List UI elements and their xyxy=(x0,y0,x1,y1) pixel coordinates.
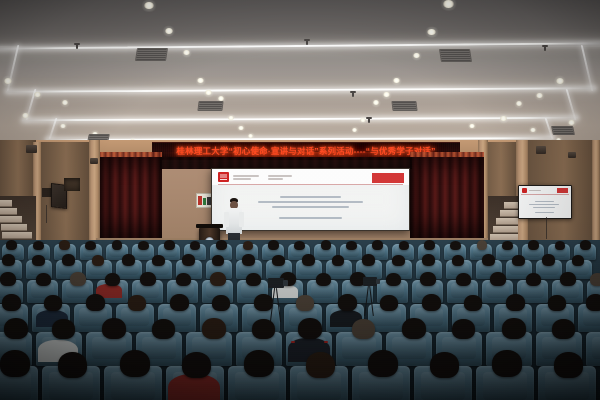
audience-head xyxy=(120,350,150,377)
audience-head xyxy=(2,294,21,311)
downlight xyxy=(360,118,366,122)
display-graphic xyxy=(198,196,202,205)
audience-head xyxy=(372,240,383,250)
building-part xyxy=(557,191,568,193)
ceiling-outer-panel xyxy=(0,0,600,46)
audience-head xyxy=(380,295,398,311)
downlight xyxy=(62,100,68,105)
stair-step xyxy=(0,216,22,223)
audience-head xyxy=(58,352,87,378)
speaker-arm xyxy=(224,212,229,227)
audience-head xyxy=(542,254,555,266)
tv-slide-body-line xyxy=(533,207,555,208)
stair-step xyxy=(0,200,12,207)
building-part xyxy=(401,176,403,180)
audience-head xyxy=(464,295,482,311)
audience-head xyxy=(33,241,44,250)
audience-head xyxy=(555,241,565,250)
audience-head xyxy=(302,254,315,266)
audience-head xyxy=(32,255,45,266)
audience-head xyxy=(321,240,331,250)
audience-head xyxy=(492,350,522,377)
downlight xyxy=(4,78,12,84)
audience-head xyxy=(580,240,591,250)
audience-head xyxy=(572,255,584,266)
audience-head xyxy=(450,241,461,250)
audience-head xyxy=(362,254,375,266)
air-conditioning-vent xyxy=(439,49,472,62)
audience-head xyxy=(6,240,17,250)
audience-head xyxy=(560,272,576,286)
audience-head xyxy=(346,241,357,250)
air-conditioning-vent xyxy=(391,101,417,111)
building-part xyxy=(373,176,375,180)
audience-head xyxy=(482,254,495,266)
building-part xyxy=(384,173,392,177)
downlight xyxy=(228,116,234,120)
audience-head xyxy=(586,294,600,311)
audience-head xyxy=(182,352,211,378)
downlight xyxy=(205,90,212,95)
audience-head xyxy=(420,272,436,286)
uniform-epaulette xyxy=(324,341,328,343)
audience-head xyxy=(506,294,525,311)
video-camera-icon xyxy=(268,278,284,288)
stair-step xyxy=(0,208,17,215)
audience-head xyxy=(386,273,401,286)
audience-head xyxy=(138,241,149,250)
downlight xyxy=(393,78,400,83)
stair-step xyxy=(500,210,518,217)
slide-header-title xyxy=(233,175,259,177)
side-monitor xyxy=(518,185,572,219)
tv-slide-body-line xyxy=(535,212,554,213)
audience-head xyxy=(452,255,464,266)
audience-head xyxy=(294,241,305,250)
audience-head xyxy=(332,255,344,266)
building-part xyxy=(372,180,404,183)
audience-head xyxy=(52,319,75,339)
downlight xyxy=(373,100,379,105)
audience-head xyxy=(246,273,261,286)
auditorium-photo: 桂林理工大学“初心使命·宣讲与对话”系列活动----“与优秀学子对话” xyxy=(0,0,600,400)
audience-head xyxy=(424,240,435,250)
audience-head xyxy=(128,295,146,311)
audience-head xyxy=(4,318,28,339)
downlight xyxy=(144,2,154,9)
speaker-arm xyxy=(239,212,244,227)
audience-head xyxy=(170,294,189,311)
downlight xyxy=(34,92,41,97)
seat xyxy=(586,332,600,366)
audience-head xyxy=(242,254,255,266)
audience-head xyxy=(296,295,314,311)
audience-head xyxy=(85,241,96,250)
slide-logo-mark xyxy=(220,174,226,180)
side-monitor-screen xyxy=(519,186,571,218)
tv-building-graphic xyxy=(557,188,568,193)
camera-lens-icon xyxy=(283,280,288,286)
audience-head xyxy=(590,273,600,286)
audience-seating xyxy=(0,240,600,400)
audience-head xyxy=(254,294,273,311)
slide-header-subtitle xyxy=(268,175,292,177)
audience-head xyxy=(164,240,175,250)
audience-head xyxy=(152,255,165,266)
downlight xyxy=(383,92,390,97)
audience-head xyxy=(176,273,191,286)
audience-head xyxy=(252,319,275,339)
downlight xyxy=(183,50,190,55)
downlight xyxy=(469,124,475,128)
audience-head xyxy=(502,318,526,339)
building-part xyxy=(559,189,566,191)
monitor-cable xyxy=(546,217,547,239)
audience-head xyxy=(268,240,279,250)
audience-head xyxy=(210,272,226,286)
audience-head xyxy=(298,318,322,339)
audience-head xyxy=(102,318,126,339)
audience-head xyxy=(44,295,62,311)
audience-head xyxy=(548,295,566,311)
downlight xyxy=(22,113,29,118)
audience-head xyxy=(92,255,104,266)
downlight xyxy=(516,101,522,106)
air-conditioning-vent xyxy=(197,101,223,111)
audience-head xyxy=(36,273,51,286)
tv-slide-logo xyxy=(522,188,527,193)
downlight xyxy=(568,120,575,125)
downlight xyxy=(556,78,564,84)
audience-head xyxy=(512,255,525,266)
audience-head xyxy=(552,319,575,339)
audience-head xyxy=(59,240,70,250)
audience-head xyxy=(477,240,487,250)
stair-step xyxy=(493,226,518,233)
audience-head xyxy=(70,272,86,286)
downlight xyxy=(352,128,357,132)
fire-sprinkler xyxy=(352,92,354,97)
audience-head xyxy=(338,294,357,311)
audience-head xyxy=(456,273,471,286)
downlight xyxy=(248,134,253,138)
audience-head xyxy=(0,350,30,377)
audience-head xyxy=(430,352,459,378)
downlight xyxy=(530,128,536,132)
ceiling-coffer-1 xyxy=(0,48,600,92)
wall-spotlight-icon xyxy=(26,145,37,153)
air-conditioning-vent xyxy=(135,48,168,61)
audience-head xyxy=(2,254,15,266)
video-camera-icon xyxy=(363,277,377,286)
slide-header-rule xyxy=(218,184,403,185)
fire-sprinkler xyxy=(306,40,308,45)
audience-head xyxy=(422,294,441,311)
audience-head xyxy=(105,273,120,286)
ceiling xyxy=(0,0,600,150)
audience-head xyxy=(490,272,506,286)
audience-head xyxy=(190,241,200,250)
audience-head xyxy=(86,294,105,311)
stage-curtain-right xyxy=(410,157,484,240)
downlight xyxy=(165,28,173,34)
downlight xyxy=(60,124,66,128)
slide-body-line xyxy=(280,196,341,198)
audience-head xyxy=(402,318,426,339)
display-graphic xyxy=(203,198,206,205)
wall-spotlight-icon xyxy=(90,158,98,164)
downlight xyxy=(413,53,420,58)
audience-head xyxy=(399,241,409,250)
downlight xyxy=(427,29,436,35)
audience-head xyxy=(528,240,539,250)
audience-head xyxy=(272,255,285,266)
audience-head xyxy=(243,241,253,250)
wall-spotlight-icon xyxy=(568,152,576,158)
stair-step xyxy=(504,202,518,209)
wall-spotlight-icon xyxy=(536,146,546,154)
audience-head xyxy=(112,240,122,250)
audience-head xyxy=(422,254,435,266)
uniform-epaulette xyxy=(291,341,295,343)
tv-slide-header xyxy=(529,190,541,191)
audience-head xyxy=(212,295,230,311)
stair-step xyxy=(2,232,32,239)
audience-head xyxy=(182,254,195,266)
audience-head xyxy=(554,352,583,378)
stair-step xyxy=(1,224,27,231)
fire-sprinkler xyxy=(76,44,78,49)
stage-curtain-left xyxy=(100,157,162,240)
audience-head xyxy=(244,350,274,377)
audience-head xyxy=(316,273,331,286)
audience-head xyxy=(122,254,135,266)
audience-head xyxy=(216,240,227,250)
speaker-cable xyxy=(46,205,47,223)
slide-header-title xyxy=(233,178,251,180)
slide-logo xyxy=(218,172,229,182)
slide-building-graphic xyxy=(372,173,404,183)
slide-body-line xyxy=(272,206,349,208)
downlight xyxy=(443,0,454,8)
fire-sprinkler xyxy=(544,46,546,51)
slide-body-line xyxy=(279,217,342,219)
wall-niche-display xyxy=(64,178,80,191)
downlight xyxy=(500,116,507,121)
audience-head xyxy=(368,350,398,377)
audience-head xyxy=(212,255,224,266)
tv-slide-body-line xyxy=(529,204,559,205)
audience-head xyxy=(526,273,541,286)
downlight xyxy=(238,126,244,130)
audience-head xyxy=(140,272,156,286)
building-part xyxy=(376,177,400,180)
audience-head xyxy=(0,272,16,286)
air-conditioning-vent xyxy=(551,126,575,135)
audience-head xyxy=(452,319,475,339)
slide-body-line xyxy=(258,201,363,203)
downlight xyxy=(197,78,204,83)
tv-slide-rule xyxy=(521,194,570,195)
slide-header-subtitle xyxy=(268,178,283,180)
audience-head xyxy=(502,241,513,250)
audience-head xyxy=(306,352,335,378)
audience-head xyxy=(62,254,75,266)
audience-head xyxy=(152,319,175,339)
stair-step xyxy=(496,218,518,225)
audience-head xyxy=(352,319,375,339)
audience-head xyxy=(202,318,226,339)
audience-head xyxy=(392,255,405,266)
downlight xyxy=(536,93,543,98)
camera-lens-icon xyxy=(376,279,380,284)
fire-sprinkler xyxy=(368,118,370,123)
tv-slide-body-line xyxy=(535,201,554,202)
